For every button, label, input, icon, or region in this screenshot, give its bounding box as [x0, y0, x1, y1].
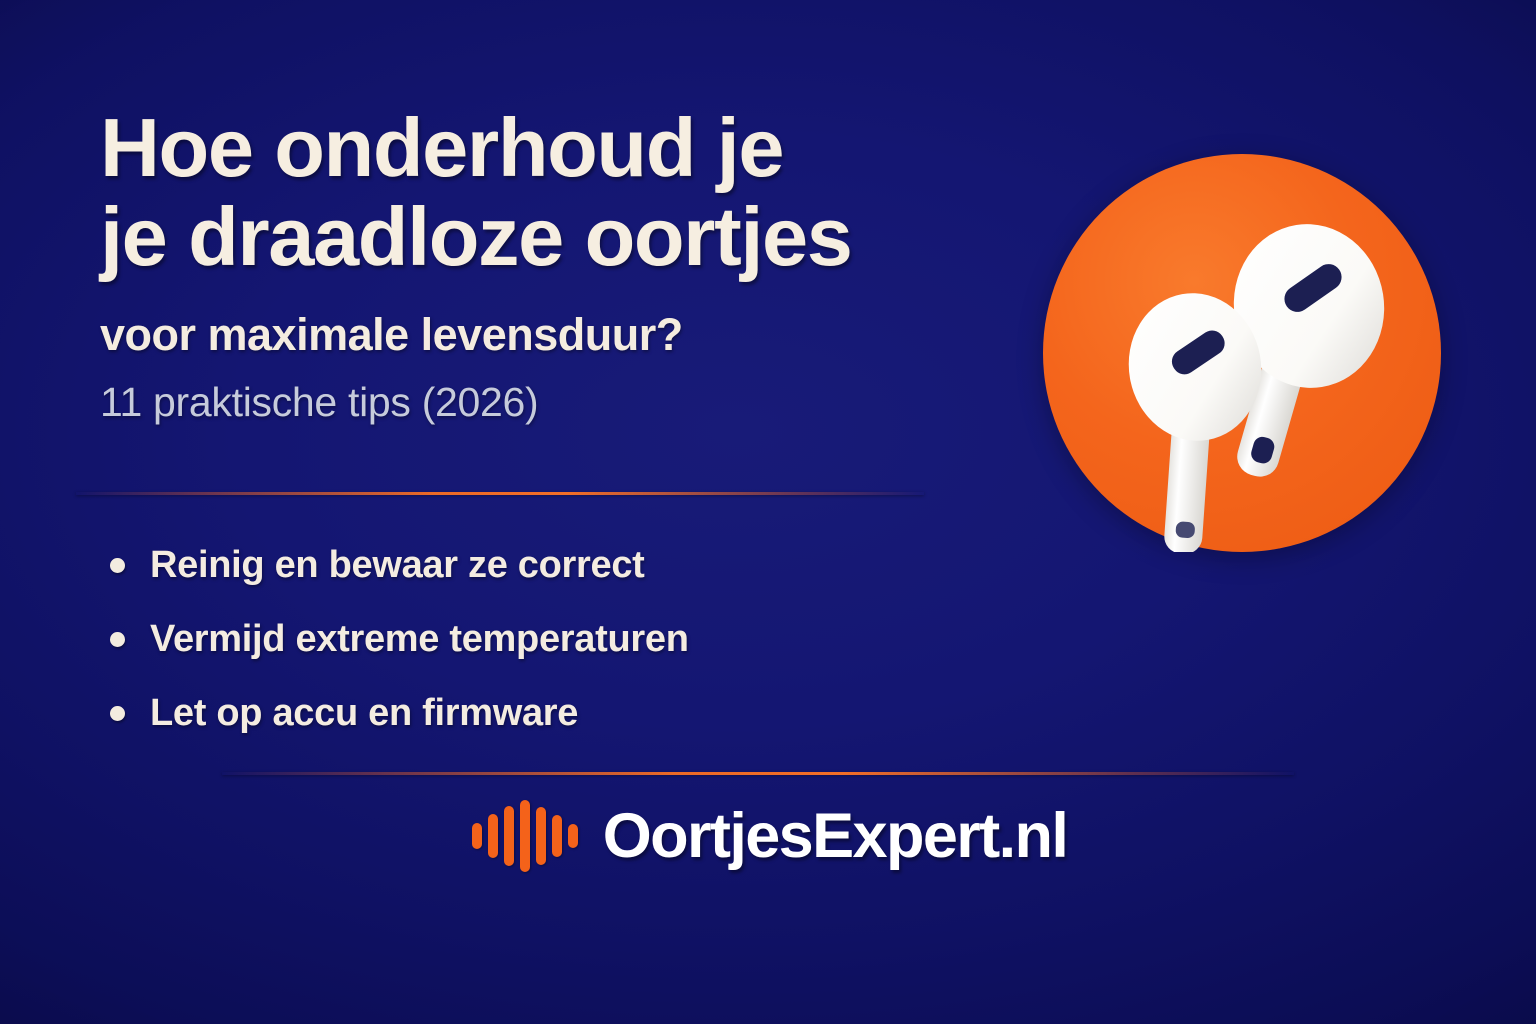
- bullet-dot-icon: [110, 558, 125, 573]
- wireless-earbuds-icon: [1043, 154, 1441, 552]
- bullet-dot-icon: [110, 632, 125, 647]
- bullet-dot-icon: [110, 706, 125, 721]
- site-logo[interactable]: OortjesExpert.nl: [0, 800, 1536, 872]
- promo-card: Hoe onderhoud je je draadloze oortjes vo…: [0, 0, 1536, 1024]
- headline-line-1: Hoe onderhoud je: [100, 104, 1000, 193]
- list-item-label: Let op accu en firmware: [150, 692, 578, 735]
- page-title: Hoe onderhoud je je draadloze oortjes: [100, 104, 1000, 282]
- list-item: Reinig en bewaar ze correct: [110, 528, 689, 602]
- headline-line-2: je draadloze oortjes: [100, 193, 1000, 282]
- audio-waveform-icon: [469, 800, 581, 872]
- earbuds-badge: [1043, 154, 1441, 552]
- divider-top: [76, 492, 924, 495]
- list-item: Let op accu en firmware: [110, 676, 689, 750]
- site-logo-text: OortjesExpert.nl: [603, 800, 1068, 872]
- list-item-label: Vermijd extreme temperaturen: [150, 618, 689, 661]
- list-item-label: Reinig en bewaar ze correct: [150, 544, 645, 587]
- tagline: 11 praktische tips (2026): [100, 380, 1000, 425]
- subheading: voor maximale levensduur?: [100, 310, 1000, 360]
- divider-bottom: [222, 772, 1294, 775]
- tips-list: Reinig en bewaar ze correct Vermijd extr…: [110, 528, 689, 750]
- list-item: Vermijd extreme temperaturen: [110, 602, 689, 676]
- text-column: Hoe onderhoud je je draadloze oortjes vo…: [100, 104, 1000, 425]
